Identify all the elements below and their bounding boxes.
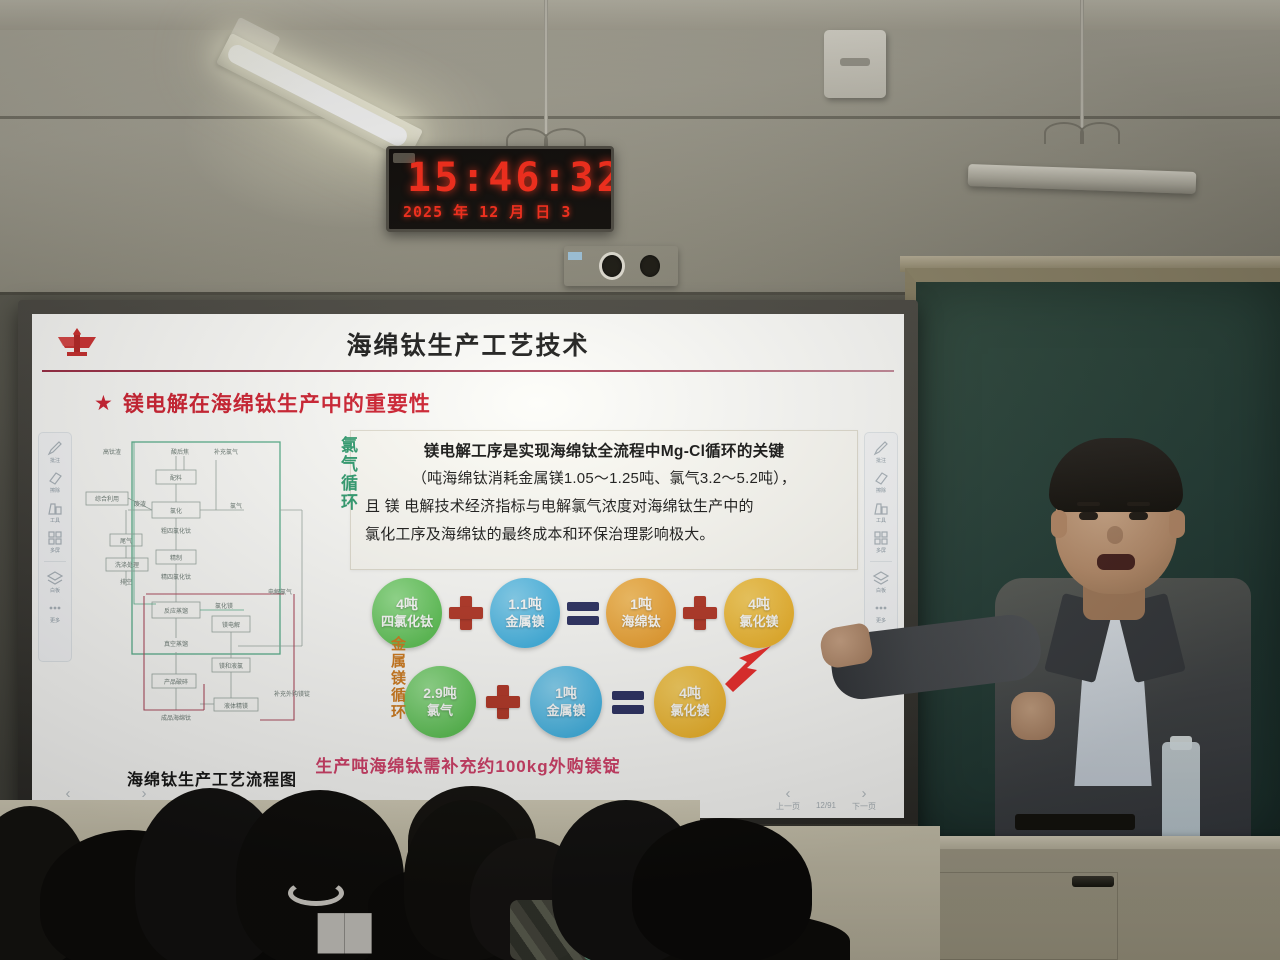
equation-circle: 4吨 氯化镁 [724, 578, 794, 648]
process-flow-diagram: 高钛渣 酸后焦 补充氯气 配料 氯化 综合利用 废渣 尾气 洗涤处理 排空 粗四… [84, 434, 344, 764]
presentation-slide: 海绵钛生产工艺技术 ★ 镁电解在海绵钛生产中的重要性 镁电解工序是实现海绵钛全流… [32, 314, 904, 818]
clock-date: 2025 年 12 月 日 3 [403, 201, 611, 222]
svg-text:液体精镁: 液体精镁 [224, 702, 248, 710]
circle-name: 氯化镁 [670, 702, 709, 719]
second-pendant-bracket [1044, 122, 1120, 146]
statement-line-4: 氯化工序及海绵钛的最终成本和环保治理影响极大。 [365, 521, 843, 549]
svg-text:氯气: 氯气 [230, 502, 242, 510]
circle-name: 四氯化钛 [381, 613, 433, 630]
audience-head [632, 818, 812, 960]
slide-bullet: ★ 镁电解在海绵钛生产中的重要性 [94, 388, 431, 418]
toolbar-item-pen[interactable]: 批注 [40, 439, 70, 464]
presenter-hair [1049, 438, 1183, 512]
more-icon [46, 599, 64, 617]
circle-amount: 4吨 [679, 685, 701, 702]
clock-time: 15:46:32 [407, 155, 607, 201]
circle-amount: 2.9吨 [423, 685, 456, 702]
svg-text:粗四氯化钛: 粗四氯化钛 [161, 527, 191, 535]
smartboard-left-toolbar[interactable]: 批注 擦除 工具 [38, 432, 72, 662]
water-bottle [1162, 742, 1200, 850]
presenter [815, 428, 1280, 860]
svg-text:精制: 精制 [170, 554, 182, 562]
toolbar-label: 更多 [50, 618, 60, 624]
equation-circle: 1.1吨 金属镁 [490, 578, 560, 648]
podium-lock-icon [1072, 876, 1114, 887]
svg-text:酸后焦: 酸后焦 [171, 448, 189, 456]
svg-text:补充外购镁锭: 补充外购镁锭 [274, 690, 310, 698]
plus-icon [683, 596, 717, 630]
svg-text:镁电解: 镁电解 [222, 621, 240, 629]
prev-page-button[interactable]: ‹ 上一页 [776, 787, 800, 812]
presenter-other-hand [1011, 692, 1055, 740]
presenter-mouth [1097, 554, 1135, 570]
pendant-rod [544, 0, 548, 134]
equation-circle: 2.9吨 氯气 [404, 666, 476, 738]
circle-amount: 4吨 [396, 596, 418, 613]
toolbar-item-eraser[interactable]: 擦除 [40, 469, 70, 494]
circle-name: 氯化镁 [739, 613, 778, 630]
second-pendant-rod [1080, 0, 1084, 128]
statement-line-3: 且 镁 电解技术经济指标与电解氯气浓度对海绵钛生产中的 [365, 493, 843, 521]
svg-text:高钛渣: 高钛渣 [103, 448, 121, 456]
chevron-left-icon: ‹ [785, 787, 790, 801]
toolbar-label: 工具 [50, 518, 60, 524]
svg-text:废渣: 废渣 [134, 500, 146, 508]
wireless-access-point [824, 30, 886, 98]
toolbox-icon [46, 499, 64, 517]
classroom-presentation-scene: 15:46:32 2025 年 12 月 日 3 [0, 0, 1280, 960]
smartboard-screen[interactable]: 海绵钛生产工艺技术 ★ 镁电解在海绵钛生产中的重要性 镁电解工序是实现海绵钛全流… [32, 314, 904, 818]
slide-header: 海绵钛生产工艺技术 [32, 314, 904, 376]
audience-hoodie-collar [288, 880, 344, 906]
chevron-right-icon: › [142, 787, 147, 801]
svg-text:镁和液氯: 镁和液氯 [219, 662, 243, 670]
equation-circle: 4吨 氯化镁 [654, 666, 726, 738]
svg-text:洗涤处理: 洗涤处理 [115, 561, 139, 569]
title-divider [42, 370, 894, 372]
ceiling-band [0, 0, 1280, 30]
prev-page-label: 上一页 [776, 801, 800, 812]
layers-icon [46, 569, 64, 587]
equation-circle: 1吨 金属镁 [530, 666, 602, 738]
grid-icon [46, 529, 64, 547]
toolbar-item-grid[interactable]: 多屏 [40, 529, 70, 554]
plus-icon [449, 596, 483, 630]
toolbar-divider [44, 561, 66, 562]
svg-text:排空: 排空 [120, 578, 132, 586]
presenter-belt [1015, 814, 1135, 830]
podium-top-surface [930, 836, 1280, 849]
svg-text:成品海绵钛: 成品海绵钛 [161, 714, 191, 722]
camera-lens-icon [602, 255, 622, 277]
equation-row-2: 2.9吨 氯气 1吨 金属镁 4吨 氯化镁 [404, 666, 726, 738]
led-wall-clock: 15:46:32 2025 年 12 月 日 3 [386, 146, 614, 232]
bullet-text: 镁电解在海绵钛生产中的重要性 [123, 388, 431, 418]
svg-text:氯化镁: 氯化镁 [215, 602, 233, 610]
eraser-icon [46, 469, 64, 487]
presenter-eye-right [1129, 512, 1148, 520]
circle-amount: 4吨 [748, 596, 770, 613]
equals-icon [567, 599, 599, 627]
svg-text:电解氯气: 电解氯气 [268, 588, 292, 596]
circle-amount: 1吨 [555, 685, 577, 702]
pen-icon [46, 439, 64, 457]
circle-name: 金属镁 [505, 613, 544, 630]
toolbar-label: 多屏 [50, 548, 60, 554]
presenter-ear-left [1051, 510, 1067, 538]
statement-box: 镁电解工序是实现海绵钛全流程中Mg-Cl循环的关键 （吨海绵钛消耗金属镁1.05… [350, 430, 858, 570]
presenter-eye-left [1079, 512, 1098, 520]
toolbar-label: 白板 [50, 588, 60, 594]
toolbar-item-toolbox[interactable]: 工具 [40, 499, 70, 524]
presenter-nose [1107, 526, 1123, 544]
circle-name: 海绵钛 [621, 613, 660, 630]
equation-circle: 1吨 海绵钛 [606, 578, 676, 648]
svg-text:精四氯化钛: 精四氯化钛 [161, 573, 191, 581]
equation-circle: 4吨 四氯化钛 [372, 578, 442, 648]
equals-icon [612, 688, 644, 716]
plus-icon [486, 685, 520, 719]
slide-title: 海绵钛生产工艺技术 [32, 326, 904, 362]
camera-sticker [568, 252, 582, 260]
red-arrow-icon [717, 644, 775, 696]
magnesium-cycle-label: 金属镁循环 [387, 636, 407, 721]
svg-text:氯化: 氯化 [170, 507, 182, 515]
toolbar-item-layers[interactable]: 白板 [40, 569, 70, 594]
toolbar-label: 批注 [50, 458, 60, 464]
svg-text:尾气: 尾气 [120, 537, 132, 545]
star-icon: ★ [94, 393, 113, 414]
statement-line-2: （吨海绵钛消耗金属镁1.05～1.25吨、氯气3.2～5.2吨）， [365, 465, 843, 493]
svg-text:真空蒸馏: 真空蒸馏 [164, 640, 188, 648]
equation-row-1: 4吨 四氯化钛 1.1吨 金属镁 1吨 海绵钛 4吨 [372, 578, 794, 648]
circle-amount: 1.1吨 [508, 596, 541, 613]
chevron-left-icon: ‹ [66, 787, 71, 801]
svg-text:综合利用: 综合利用 [95, 495, 119, 503]
svg-text:补充氯气: 补充氯气 [214, 448, 238, 456]
presenter-ear-right [1169, 510, 1185, 538]
camera-sensor-icon [640, 255, 660, 277]
circle-name: 氯气 [427, 702, 453, 719]
toolbar-item-more[interactable]: 更多 [40, 599, 70, 624]
circle-name: 金属镁 [546, 702, 585, 719]
svg-text:配料: 配料 [170, 474, 182, 482]
svg-text:产品破碎: 产品破碎 [164, 678, 188, 686]
smartboard-frame: 海绵钛生产工艺技术 ★ 镁电解在海绵钛生产中的重要性 镁电解工序是实现海绵钛全流… [18, 300, 918, 836]
classroom-camera-sensor [564, 246, 678, 286]
circle-amount: 1吨 [630, 596, 652, 613]
presenter-brow-left [1077, 502, 1100, 506]
presenter-brow-right [1127, 502, 1150, 506]
svg-text:反应蒸馏: 反应蒸馏 [164, 607, 188, 615]
toolbar-label: 擦除 [50, 488, 60, 494]
statement-line-1: 镁电解工序是实现海绵钛全流程中Mg-Cl循环的关键 [365, 438, 843, 465]
